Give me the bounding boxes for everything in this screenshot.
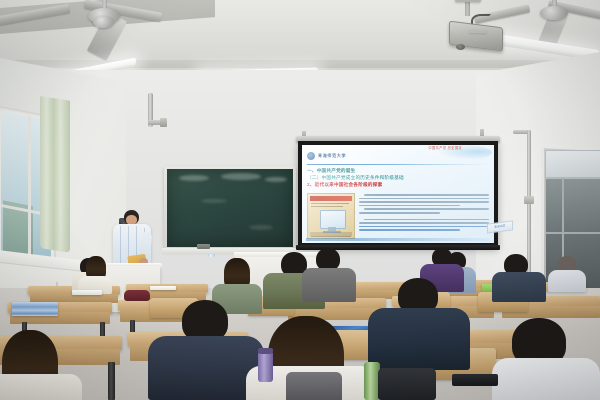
slide-heading-2: （二）中国共产党成立的历史条件和阶级基础	[307, 174, 489, 181]
student-torso	[368, 308, 470, 370]
chalk-smudge	[249, 225, 273, 230]
slide-divider	[307, 164, 489, 165]
slide-text-line	[359, 222, 489, 224]
thumbnail-text-line	[311, 203, 349, 204]
screen-surface: 青海师范大学 中国共产党 历史展览 一、中国共产党的诞生 （二）中国共产党成立的…	[302, 145, 494, 243]
projector-pole	[465, 0, 470, 16]
thumbnail-red-banner	[310, 196, 352, 201]
slide-text-line	[359, 205, 460, 207]
fan-hub	[540, 6, 568, 20]
door-crossbar	[546, 232, 600, 234]
chalkboard	[167, 169, 293, 247]
student-torso	[302, 268, 356, 302]
student-torso	[492, 272, 546, 302]
thumbnail-text-line	[311, 206, 343, 207]
university-logo-icon	[307, 152, 315, 160]
purple-bottle-cap	[258, 348, 273, 354]
board-eraser	[197, 244, 210, 249]
thumbnail-text-line	[311, 236, 351, 237]
slide-text-line	[359, 198, 489, 200]
classroom-photo: 青海师范大学 中国共产党 历史展览 一、中国共产党的诞生 （二）中国共产党成立的…	[0, 0, 600, 400]
fan-motor	[93, 16, 114, 28]
slide-footer-bar	[306, 238, 490, 241]
slide-text-line	[359, 201, 489, 203]
student-torso	[0, 374, 82, 400]
slide-text-line	[364, 219, 489, 221]
slide-text-line-highlight	[359, 229, 460, 231]
black-phone-on-desk	[452, 374, 498, 386]
chalk-smudge	[265, 177, 287, 182]
door-transom-window	[545, 150, 600, 178]
slide-logo-text: 青海师范大学	[318, 153, 346, 159]
chalk-smudge	[221, 173, 261, 180]
book-stack-blue	[12, 302, 58, 316]
student-torso	[492, 358, 600, 400]
desk-leg	[108, 362, 115, 400]
papers-on-desk	[150, 286, 176, 290]
projector-ceiling-plate	[455, 0, 481, 2]
presentation-slide: 青海师范大学 中国共产党 历史展览 一、中国共产党的诞生 （二）中国共产党成立的…	[302, 145, 494, 243]
papers-on-desk	[72, 290, 102, 295]
slide-text-line-highlight	[359, 226, 489, 228]
slide-heading-1: 一、中国共产党的诞生	[307, 167, 489, 174]
chalk-smudge	[201, 199, 227, 203]
projector-vent	[469, 30, 487, 33]
slide-body-text	[359, 193, 489, 239]
chalkboard-frame	[164, 166, 296, 250]
slide-header: 青海师范大学	[307, 148, 489, 163]
slide-text-line	[359, 212, 440, 214]
slide-body	[307, 193, 489, 239]
projection-screen: 青海师范大学 中国共产党 历史展览 一、中国共产党的诞生 （二）中国共产党成立的…	[298, 141, 498, 247]
handbag-on-desk	[124, 290, 150, 301]
slide-text-line	[364, 208, 489, 210]
chalk-smudge	[179, 175, 209, 181]
projector-lens	[456, 44, 465, 50]
wall-sensor	[160, 118, 167, 127]
slide-heading-3: 2、近代以来中国社会各阶级的探索	[307, 181, 489, 188]
slide-text-line	[364, 194, 489, 196]
slide-document-thumbnail	[307, 193, 355, 239]
student-vest	[286, 372, 342, 400]
window-mullion-vertical	[28, 116, 31, 271]
purple-water-bottle	[258, 352, 273, 382]
thumbnail-footer	[310, 232, 352, 236]
student-torso	[548, 270, 586, 292]
conduit-junction-box	[524, 196, 534, 204]
slide-corner-note: 中国共产党 历史展览	[428, 146, 462, 150]
exit-sign-text: 安全出口	[488, 222, 512, 233]
window-curtain	[40, 96, 70, 253]
black-backpack	[378, 368, 436, 400]
